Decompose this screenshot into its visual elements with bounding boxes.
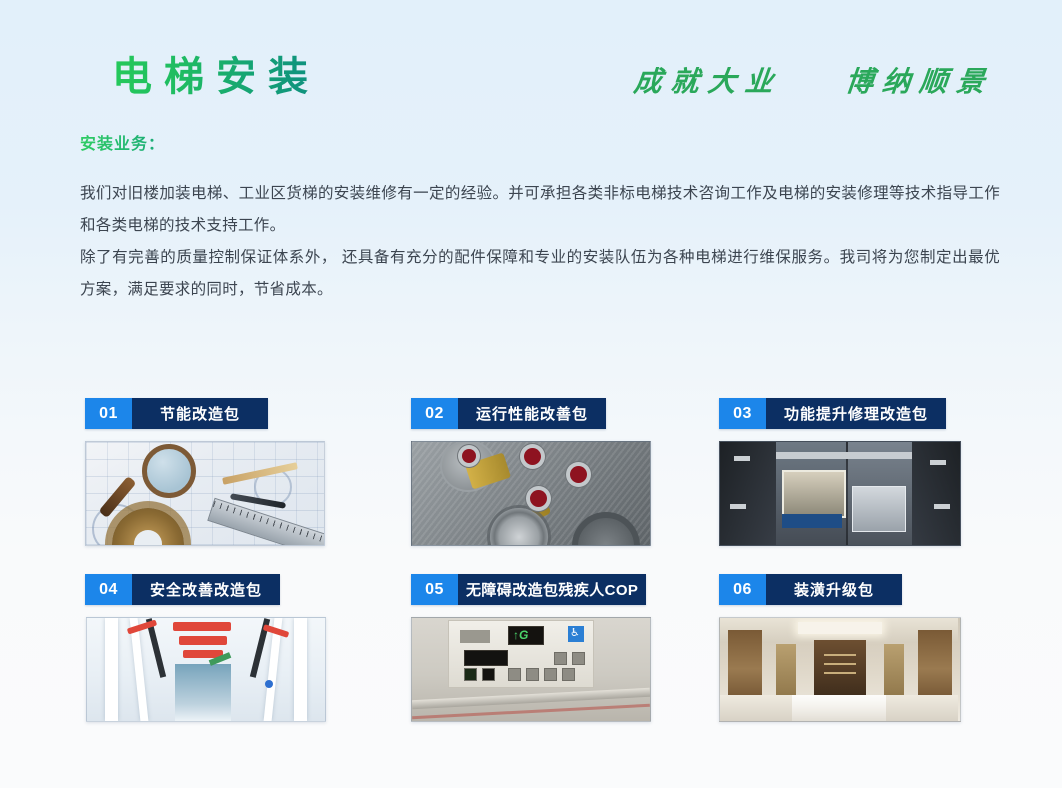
package-number-01: 01 (85, 398, 132, 429)
package-tag-02: 02 运行性能改善包 (411, 398, 606, 429)
elevator-car-icon (782, 470, 846, 518)
package-label-05: 无障碍改造包残疾人COP (458, 574, 646, 605)
marble-floor-icon (720, 695, 958, 721)
floor-button-icon (526, 668, 539, 681)
company-slogan: 成就大业 博纳顺景 (632, 60, 996, 100)
package-label-03: 功能提升修理改造包 (766, 398, 946, 429)
call-button-icon (482, 668, 495, 681)
package-grid: 01 节能改造包 02 运行性能改善包 (85, 398, 985, 750)
floor-indicator-icon (508, 626, 544, 645)
package-card-02[interactable]: 02 运行性能改善包 (411, 398, 711, 546)
lobby-shelf-icon (814, 640, 866, 702)
elevator-car-base-icon (782, 514, 842, 528)
package-row-1: 01 节能改造包 02 运行性能改善包 (85, 398, 985, 574)
ruby-jewel-icon (570, 466, 587, 483)
page-header: 电梯安装 成就大业 博纳顺景 (0, 0, 1062, 130)
package-image-06[interactable] (719, 617, 961, 722)
machine-core-icon (175, 664, 231, 721)
elevator-installation-page: 电梯安装 成就大业 博纳顺景 安装业务： 我们对旧楼加装电梯、工业区货梯的安装维… (0, 0, 1062, 788)
floor-button-icon (508, 668, 521, 681)
floor-button-icon (554, 652, 567, 665)
marble-column-icon (776, 644, 796, 702)
slogan-left: 成就大业 (633, 65, 784, 98)
marble-column-icon (884, 644, 904, 702)
white-frame-icon (294, 618, 307, 721)
section-subtitle: 安装业务： (80, 130, 165, 154)
floor-button-icon (572, 652, 585, 665)
floor-button-icon (544, 668, 557, 681)
ruby-jewel-icon (524, 448, 541, 465)
slogan-right: 博纳顺景 (844, 65, 995, 98)
package-number-06: 06 (719, 574, 766, 605)
package-label-02: 运行性能改善包 (458, 398, 606, 429)
package-tag-03: 03 功能提升修理改造包 (719, 398, 946, 429)
package-card-01[interactable]: 01 节能改造包 (85, 398, 385, 546)
package-card-05[interactable]: 05 无障碍改造包残疾人COP (411, 574, 711, 722)
package-image-03[interactable] (719, 441, 961, 546)
package-tag-01: 01 节能改造包 (85, 398, 268, 429)
package-number-02: 02 (411, 398, 458, 429)
package-label-04: 安全改善改造包 (132, 574, 280, 605)
call-button-icon (464, 668, 477, 681)
blue-indicator-icon (265, 680, 273, 688)
accessibility-icon (568, 626, 584, 642)
package-label-06: 装潢升级包 (766, 574, 902, 605)
white-frame-icon (105, 618, 118, 721)
package-number-04: 04 (85, 574, 132, 605)
ceiling-light-icon (930, 460, 946, 465)
package-tag-06: 06 装潢升级包 (719, 574, 902, 605)
red-panel-icon (179, 636, 227, 645)
floor-button-icon (562, 668, 575, 681)
package-label-01: 节能改造包 (132, 398, 268, 429)
elevator-door-icon (852, 486, 906, 532)
white-frame-icon (130, 618, 149, 721)
red-panel-icon (173, 622, 231, 631)
package-card-04[interactable]: 04 安全改善改造包 (85, 574, 385, 722)
package-number-03: 03 (719, 398, 766, 429)
ceiling-light-icon (934, 504, 950, 509)
package-image-04[interactable] (86, 617, 326, 722)
package-tag-05: 05 无障碍改造包残疾人COP (411, 574, 646, 605)
lcd-display-icon (464, 650, 508, 666)
magnifier-lens-icon (142, 444, 196, 498)
package-tag-04: 04 安全改善改造包 (85, 574, 280, 605)
ceiling-beam-icon (776, 452, 912, 459)
package-number-05: 05 (411, 574, 458, 605)
package-row-2: 04 安全改善改造包 (85, 574, 985, 750)
intro-paragraph-1: 我们对旧楼加装电梯、工业区货梯的安装维修有一定的经验。并可承担各类非标电梯技术咨… (80, 178, 1000, 242)
package-card-06[interactable]: 06 装潢升级包 (719, 574, 1019, 722)
intro-paragraph-2: 除了有完善的质量控制保证体系外， 还具备有充分的配件保障和专业的安装队伍为各种电… (80, 242, 1000, 306)
ruby-jewel-icon (462, 449, 476, 463)
package-card-03[interactable]: 03 功能提升修理改造包 (719, 398, 1019, 546)
ruby-jewel-icon (530, 490, 547, 507)
ceiling-light-icon (734, 456, 750, 461)
package-image-05[interactable] (411, 617, 651, 722)
package-image-02[interactable] (411, 441, 651, 546)
page-title: 电梯安装 (112, 44, 320, 102)
panel-plate-icon (460, 630, 490, 643)
package-image-01[interactable] (85, 441, 325, 546)
ceiling-light-icon (730, 504, 746, 509)
